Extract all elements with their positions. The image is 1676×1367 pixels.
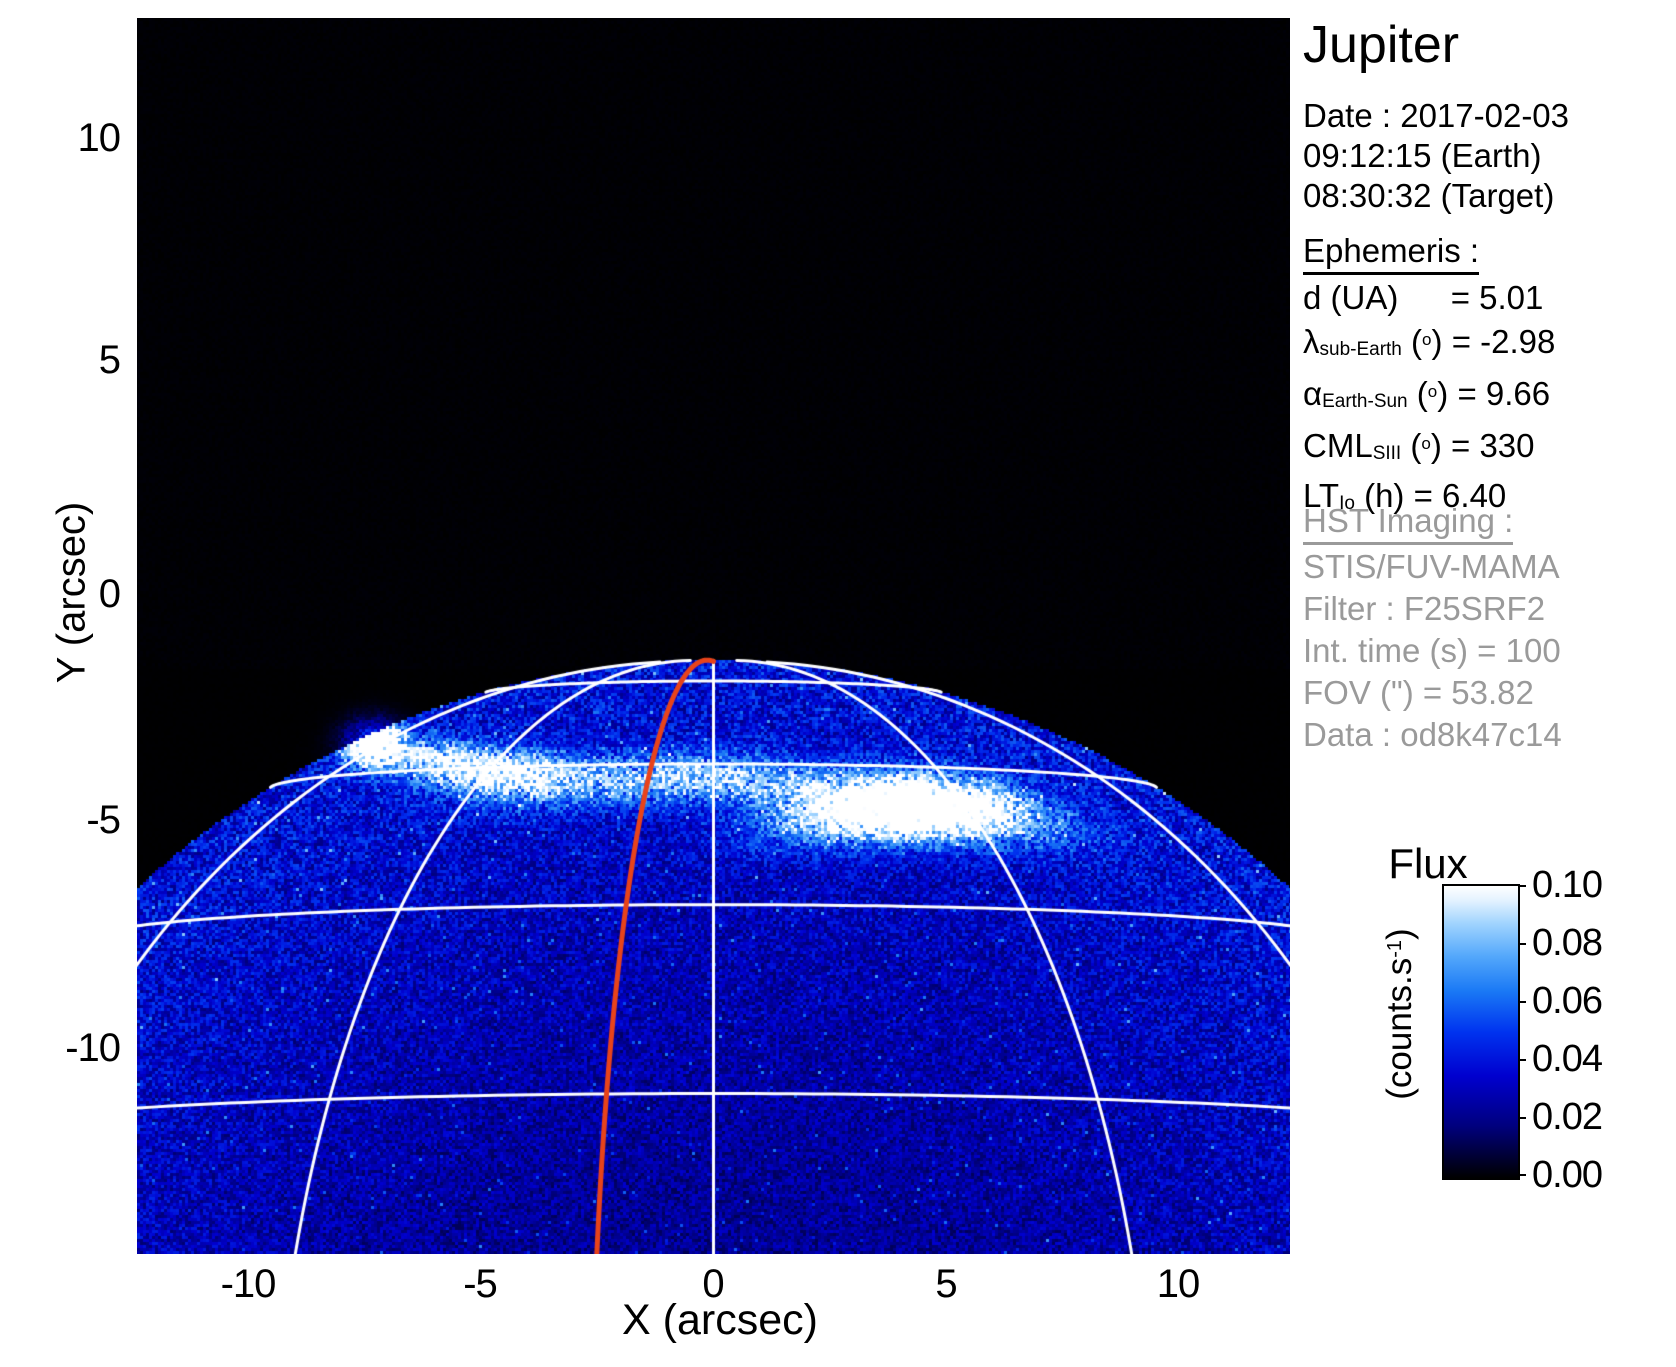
colorbar-tick (1518, 1117, 1526, 1119)
colorbar-tick-label: 0.06 (1532, 982, 1602, 1020)
ephemeris-unit: (o) (1411, 323, 1442, 360)
colorbar-tick (1518, 885, 1526, 887)
colorbar: (counts.s-1) 0.10 0.08 0.06 0.04 0.02 0.… (1346, 884, 1676, 1176)
hst-imaging-heading-text: HST Imaging : (1303, 502, 1513, 545)
colorbar-tick (1518, 943, 1526, 945)
colorbar-title: Flux (1328, 840, 1528, 888)
date-line: Date : 2017-02-03 (1303, 96, 1569, 136)
hst-fov-line: FOV (") = 53.82 (1303, 672, 1562, 714)
y-tick-label: 0 (99, 574, 120, 614)
page-title: Jupiter (1303, 16, 1459, 74)
ephemeris-label: α (1303, 375, 1322, 412)
colorbar-tick-label: 0.02 (1532, 1098, 1602, 1136)
hst-imaging-heading: HST Imaging : (1303, 502, 1513, 545)
x-tick-label: 10 (1098, 1264, 1258, 1304)
y-axis-title: Y (arcsec) (50, 443, 95, 743)
ephemeris-label: λ (1303, 323, 1320, 360)
colorbar-tick-label: 0.08 (1532, 924, 1602, 962)
y-tick-label: 10 (78, 118, 121, 158)
ephemeris-rows: d (UA) = 5.01 λsub-Earth (o) = -2.98 αEa… (1303, 277, 1555, 525)
earth-time-line: 09:12:15 (Earth) (1303, 136, 1569, 176)
hst-data-line: Data : od8k47c14 (1303, 714, 1562, 756)
ephemeris-row-cml: CMLSIII (o) = 330 (1303, 423, 1555, 475)
colorbar-tick (1518, 1059, 1526, 1061)
date-block: Date : 2017-02-03 09:12:15 (Earth) 08:30… (1303, 96, 1569, 216)
ephemeris-value: = 9.66 (1457, 375, 1550, 412)
colorbar-tick (1518, 1174, 1526, 1176)
colorbar-gradient (1442, 884, 1520, 1180)
colorbar-tick (1518, 1001, 1526, 1003)
aurora-image-plot (137, 18, 1290, 1254)
ephemeris-row-phase-angle: αEarth-Sun (o) = 9.66 (1303, 371, 1555, 423)
ephemeris-unit: (o) (1417, 375, 1448, 412)
ephemeris-subscript: SIII (1373, 443, 1402, 464)
colorbar-tick-label: 0.00 (1532, 1156, 1602, 1194)
target-time-line: 08:30:32 (Target) (1303, 176, 1569, 216)
colorbar-tick-label: 0.04 (1532, 1040, 1602, 1078)
ephemeris-label: d (UA) (1303, 279, 1398, 316)
ephemeris-row-sub-earth-latitude: λsub-Earth (o) = -2.98 (1303, 319, 1555, 371)
ephemeris-subscript: Earth-Sun (1322, 391, 1408, 412)
hst-imaging-rows: STIS/FUV-MAMA Filter : F25SRF2 Int. time… (1303, 546, 1562, 756)
colorbar-tick-label: 0.10 (1532, 866, 1602, 904)
colorbar-axis-title: (counts.s-1) (1380, 874, 1420, 1154)
ephemeris-row-distance: d (UA) = 5.01 (1303, 277, 1555, 319)
hst-instrument-line: STIS/FUV-MAMA (1303, 546, 1562, 588)
ephemeris-heading: Ephemeris : (1303, 232, 1479, 275)
ephemeris-value: = 330 (1451, 427, 1535, 464)
hst-filter-line: Filter : F25SRF2 (1303, 588, 1562, 630)
hst-int-time-line: Int. time (s) = 100 (1303, 630, 1562, 672)
x-axis-title: X (arcsec) (440, 1296, 1000, 1345)
y-tick-label: -10 (65, 1028, 120, 1068)
ephemeris-value: = -2.98 (1452, 323, 1556, 360)
ephemeris-unit: (o) (1410, 427, 1441, 464)
y-tick-label: -5 (86, 800, 120, 840)
info-panel: Jupiter Date : 2017-02-03 09:12:15 (Eart… (1300, 0, 1676, 1367)
fuv-aurora-canvas (137, 18, 1290, 1254)
y-tick-label: 5 (99, 340, 120, 380)
ephemeris-value: = 5.01 (1451, 279, 1544, 316)
ephemeris-heading-text: Ephemeris : (1303, 232, 1479, 275)
x-tick-label: -10 (168, 1264, 328, 1304)
ephemeris-label: CML (1303, 427, 1373, 464)
ephemeris-subscript: sub-Earth (1320, 339, 1402, 360)
